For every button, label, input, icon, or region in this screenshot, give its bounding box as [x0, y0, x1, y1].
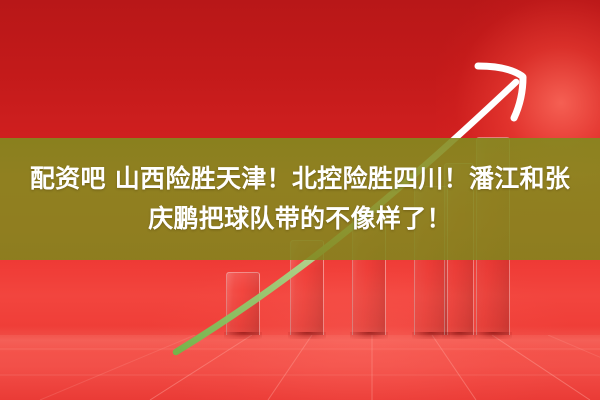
headline-band: 配资吧 山西险胜天津！北控险胜四川！潘江和张庆鹏把球队带的不像样了！	[0, 138, 600, 260]
headline-text: 配资吧 山西险胜天津！北控险胜四川！潘江和张庆鹏把球队带的不像样了！	[14, 159, 586, 239]
floor-perspective-lines	[0, 335, 600, 400]
chart-bar	[226, 272, 260, 335]
bar-shading	[226, 272, 260, 335]
promo-banner: 配资吧 山西险胜天津！北控险胜四川！潘江和张庆鹏把球队带的不像样了！	[0, 0, 600, 400]
